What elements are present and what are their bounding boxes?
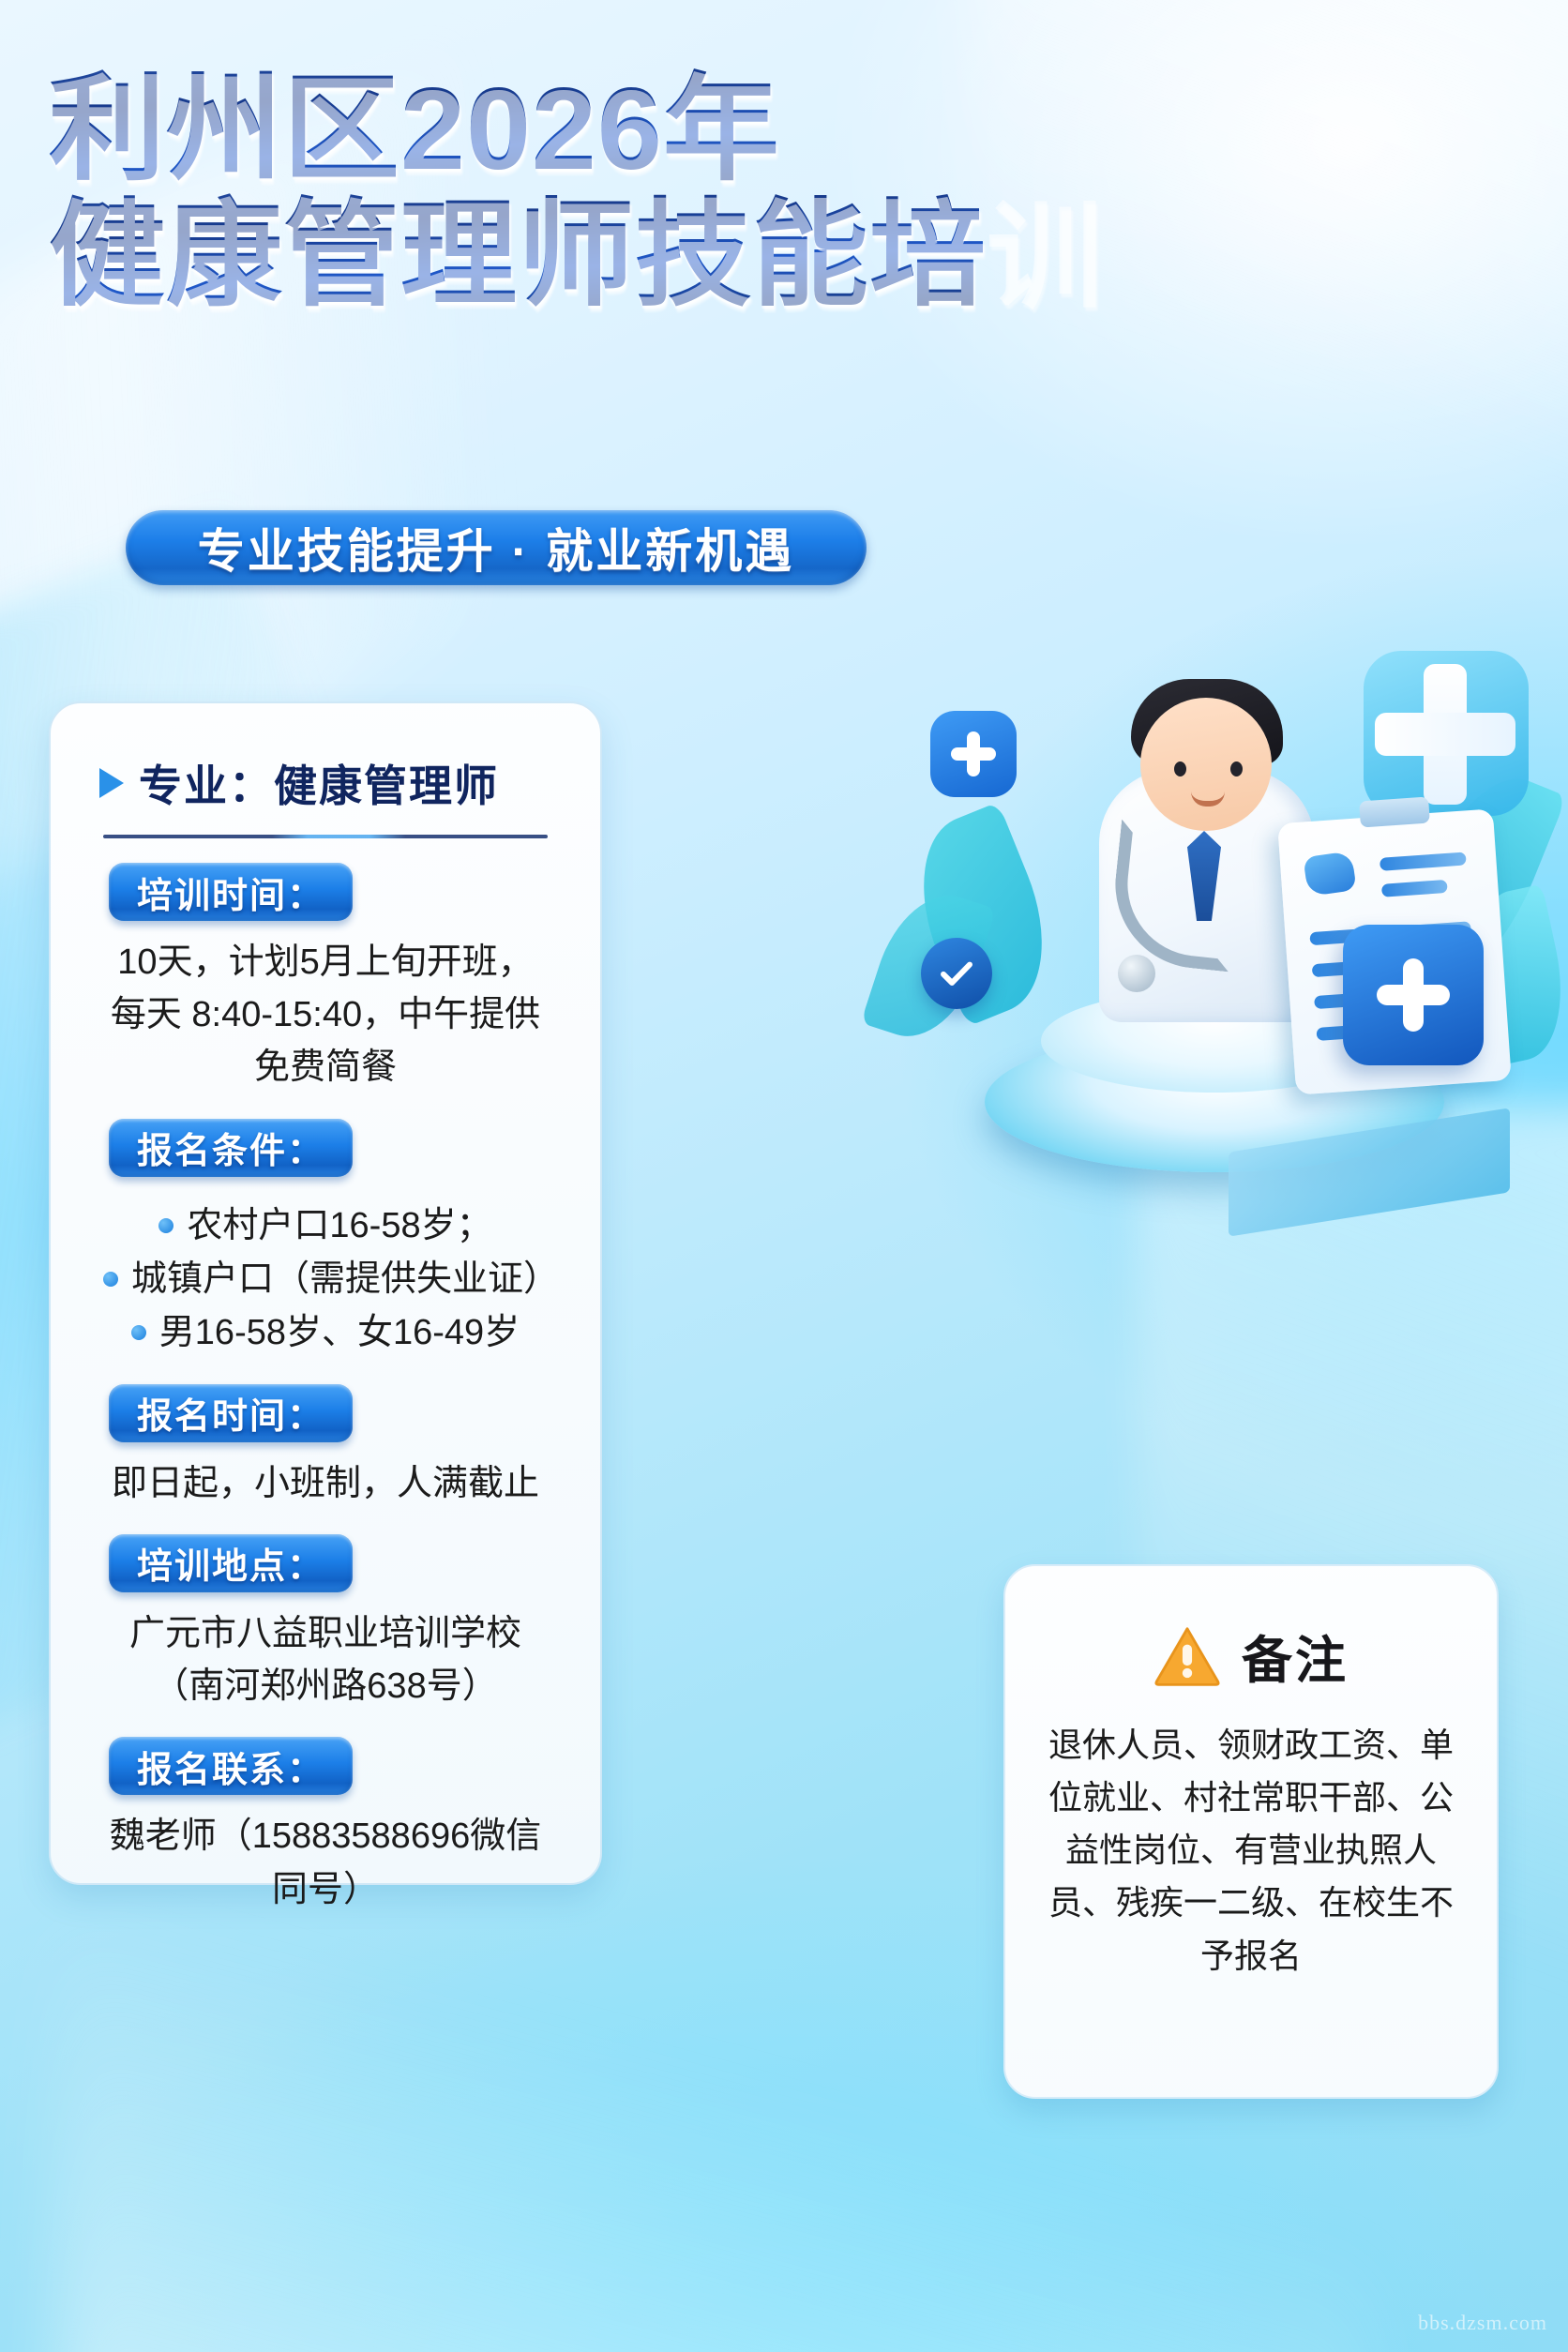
section-label-text: 培训地点： — [137, 1537, 324, 1589]
clipboard-blob — [1303, 851, 1356, 897]
list-item-label: 农村户口16-58岁； — [187, 1199, 491, 1253]
bullet-dot-icon — [131, 1325, 146, 1340]
program-card-heading-text: 专业：健康管理师 — [139, 752, 499, 814]
poster-title-block: 利州区2026年 健康管理师技能培训 — [49, 68, 987, 319]
bullet-dot-icon — [158, 1218, 173, 1233]
triangle-right-icon — [99, 768, 124, 798]
poster-title-line-1: 利州区2026年 — [49, 68, 987, 193]
clipboard-line — [1380, 852, 1467, 870]
heading-divider — [103, 835, 548, 838]
doctor-head — [1140, 698, 1272, 831]
list-item: 城镇户口（需提供失业证） — [103, 1253, 548, 1306]
section-label-text: 报名联系： — [137, 1741, 324, 1792]
medical-cross-card-icon — [1377, 958, 1450, 1032]
section-label-text: 报名条件： — [137, 1122, 324, 1173]
section-contact: 报名联系： 魏老师（15883588696微信同号） — [79, 1737, 572, 1915]
section-training-time: 培训时间： 10天，计划5月上旬开班，每天 8:40-15:40，中午提供免费简… — [79, 863, 572, 1094]
section-content-eligibility: 农村户口16-58岁； 城镇户口（需提供失业证） 男16-58岁、女16-49岁 — [79, 1199, 572, 1360]
section-label-text: 报名时间： — [137, 1387, 324, 1439]
section-label-location: 培训地点： — [109, 1534, 353, 1592]
section-registration-time: 报名时间： 即日起，小班制，人满截止 — [79, 1384, 572, 1510]
section-label-text: 培训时间： — [137, 867, 324, 918]
medical-cross-small-icon — [951, 731, 996, 776]
section-eligibility: 报名条件： 农村户口16-58岁； 城镇户口（需提供失业证） 男16-58岁、女… — [79, 1119, 572, 1360]
doctor-eye-left — [1174, 761, 1186, 776]
remarks-card-title: 备注 — [1242, 1619, 1349, 1693]
program-card-heading: 专业：健康管理师 — [79, 752, 572, 814]
remarks-card: 备注 退休人员、领财政工资、单位就业、村社常职干部、公益性岗位、有营业执照人员、… — [1003, 1564, 1499, 2099]
poster-subtitle-text: 专业技能提升 · 就业新机遇 — [198, 514, 794, 581]
section-content-location: 广元市八益职业培训学校（南河郑州路638号） — [79, 1607, 572, 1712]
remarks-card-body: 退休人员、领财政工资、单位就业、村社常职干部、公益性岗位、有营业执照人员、残疾一… — [1037, 1719, 1465, 1983]
list-item: 男16-58岁、女16-49岁 — [103, 1306, 548, 1360]
section-content-training-time: 10天，计划5月上旬开班，每天 8:40-15:40，中午提供免费简餐 — [79, 936, 572, 1094]
check-badge-icon — [921, 938, 992, 1009]
bullet-dot-icon — [103, 1272, 118, 1287]
section-label-training-time: 培训时间： — [109, 863, 353, 921]
poster-subtitle-banner: 专业技能提升 · 就业新机遇 — [126, 510, 867, 585]
remarks-card-heading: 备注 — [1037, 1619, 1465, 1693]
poster-root: 利州区2026年 健康管理师技能培训 专业技能提升 · 就业新机遇 — [0, 0, 1568, 2352]
clipboard-clamp — [1359, 796, 1430, 827]
list-item: 农村户口16-58岁； — [103, 1199, 548, 1253]
watermark: bbs.dzsm.com — [1418, 2311, 1547, 2335]
program-info-card: 专业：健康管理师 培训时间： 10天，计划5月上旬开班，每天 8:40-15:4… — [49, 701, 602, 1885]
list-item-label: 男16-58岁、女16-49岁 — [159, 1306, 520, 1360]
section-content-registration-time: 即日起，小班制，人满截止 — [79, 1457, 572, 1510]
clipboard-line — [1381, 880, 1448, 897]
section-content-contact: 魏老师（15883588696微信同号） — [79, 1810, 572, 1915]
doctor-eye-right — [1230, 761, 1243, 776]
section-label-registration-time: 报名时间： — [109, 1384, 353, 1442]
stethoscope-bell — [1118, 955, 1155, 992]
section-label-eligibility: 报名条件： — [109, 1119, 353, 1177]
list-item-label: 城镇户口（需提供失业证） — [131, 1253, 548, 1306]
warning-triangle-icon — [1153, 1625, 1221, 1687]
doctor-with-clipboard-illustration — [919, 656, 1538, 1219]
section-label-contact: 报名联系： — [109, 1737, 353, 1795]
section-location: 培训地点： 广元市八益职业培训学校（南河郑州路638号） — [79, 1534, 572, 1712]
medical-cross-large-icon — [1375, 664, 1515, 805]
poster-title-line-2: 健康管理师技能培训 — [49, 193, 987, 319]
